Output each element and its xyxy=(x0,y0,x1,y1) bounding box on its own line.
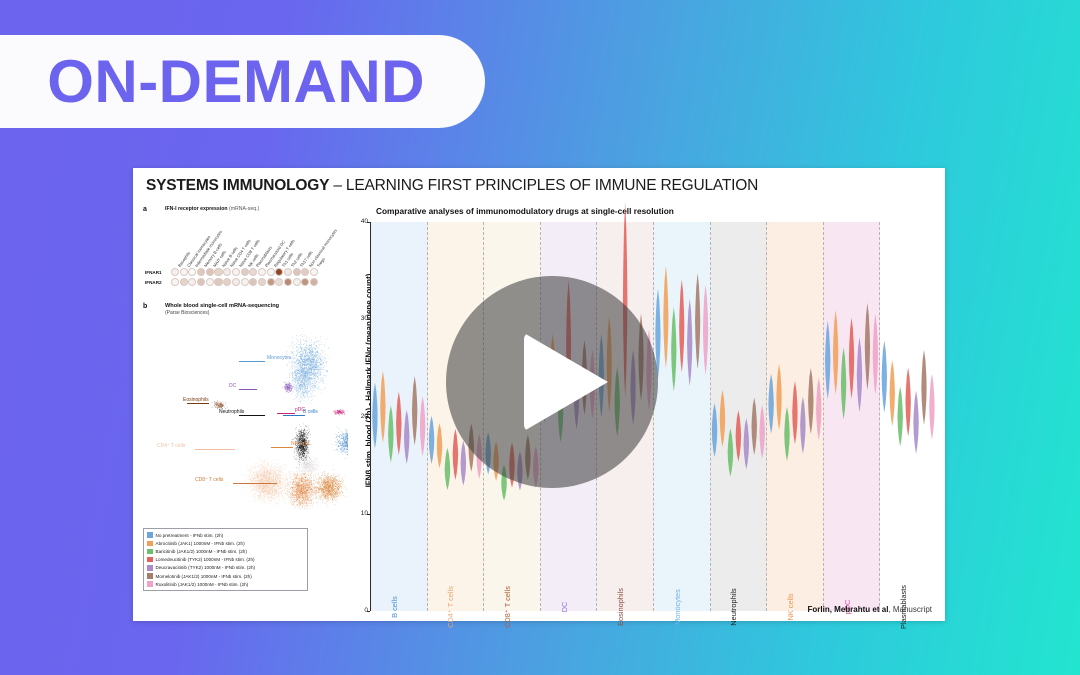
panel-a-dot xyxy=(180,278,188,286)
x-axis-category-label: B cells xyxy=(390,596,399,618)
legend-item: Baricitinib (JAK1/2) 1000nM - IFNb stim.… xyxy=(147,547,304,555)
violin-shape xyxy=(403,410,410,464)
chart-band: NK cells xyxy=(767,222,824,611)
panel-a-dot xyxy=(232,278,240,286)
violin-shape xyxy=(921,350,927,425)
violin-shape xyxy=(833,310,839,394)
violin-shape xyxy=(428,416,435,464)
x-axis-category-label: Monocytes xyxy=(673,589,682,625)
legend-item: Momelotinib (JAK1/2) 1000nM - IFNb stim.… xyxy=(147,572,304,580)
on-demand-badge: ON-DEMAND xyxy=(0,35,485,128)
umap-scatter: MonocytesDCpDCEosinophilsNeutrophilsB ce… xyxy=(143,317,348,517)
y-axis-tick-label: 20 xyxy=(356,413,368,420)
legend-swatch xyxy=(147,557,153,563)
page-title: SYSTEMS IMMUNOLOGY – LEARNING FIRST PRIN… xyxy=(146,177,758,195)
panel-a-title: IFN-I receptor expression (mRNA-seq.) xyxy=(165,206,259,212)
chart-band: Monocytes xyxy=(654,222,711,611)
panel-a-dot xyxy=(214,278,222,286)
panel-a-dot xyxy=(258,278,266,286)
violin-shape xyxy=(396,392,402,455)
legend-label: Abrocitinib (JAK1) 1000nM - IFNb stim. (… xyxy=(156,541,245,546)
violin-shape xyxy=(380,371,386,443)
violin-shape xyxy=(881,340,887,412)
panel-a-dot xyxy=(249,268,257,276)
panel-a-dot xyxy=(249,278,257,286)
umap-label-leader xyxy=(239,361,265,362)
panel-a-row-label: IFNAR1 xyxy=(145,270,162,275)
panel-a-dot xyxy=(180,268,188,276)
umap-label-leader xyxy=(195,449,235,450)
umap-label-leader xyxy=(187,403,209,404)
credit-authors: Forlin, Mebrahtu et al xyxy=(808,605,889,614)
manuscript-credit: Forlin, Mebrahtu et al, Manuscript xyxy=(808,605,932,614)
y-axis-tick-label: 40 xyxy=(356,218,368,225)
panel-a-row-label: IFNAR2 xyxy=(145,280,162,285)
panel-a-dot xyxy=(197,278,205,286)
violin-shape xyxy=(759,405,766,459)
violin-shape xyxy=(372,382,378,448)
legend-label: Momelotinib (JAK1/2) 1000nM - IFNb stim.… xyxy=(156,574,252,579)
violin-shape xyxy=(872,314,878,395)
umap-label-leader xyxy=(283,415,305,416)
violin-shape xyxy=(897,386,904,446)
legend-label: Deucravacitinib (TYK2) 1000nM - IFNb sti… xyxy=(156,565,256,570)
umap-label-leader xyxy=(239,389,257,390)
violin-shape xyxy=(436,423,443,468)
umap-label-leader xyxy=(233,483,277,484)
panel-a-dot xyxy=(223,278,231,286)
violin-shape xyxy=(695,273,701,369)
panel-b-title: Whole blood single-cell mRNA-sequencing xyxy=(165,303,279,309)
violin-shape xyxy=(460,441,467,486)
chart-band: Plasmablasts xyxy=(880,222,936,611)
panel-a-dot xyxy=(214,268,222,276)
panel-a-title-note: (mRNA-seq.) xyxy=(229,206,259,212)
violin-shape xyxy=(679,279,685,372)
violin-shape xyxy=(719,390,726,447)
x-axis-category-label: CD8⁺ T cells xyxy=(503,586,512,628)
umap-cluster-label: Monocytes xyxy=(267,355,291,361)
panel-a-dot xyxy=(301,278,309,286)
chart-band: Neutrophils xyxy=(711,222,768,611)
on-demand-label: ON-DEMAND xyxy=(47,52,425,112)
violin-shape xyxy=(913,391,919,454)
panel-a-row-cells xyxy=(171,268,318,276)
page-title-bold: SYSTEMS IMMUNOLOGY xyxy=(146,177,329,194)
violin-shape xyxy=(452,429,459,480)
panel-a-dot xyxy=(293,278,301,286)
panel-a-dot xyxy=(267,268,275,276)
violin-shape xyxy=(663,266,669,369)
violin-shape xyxy=(702,285,708,375)
violin-shape xyxy=(768,374,775,434)
violin-shape xyxy=(411,376,417,445)
page-title-rest: – LEARNING FIRST PRINCIPLES OF IMMUNE RE… xyxy=(329,177,758,194)
panel-a-dot xyxy=(267,278,275,286)
y-axis-tick-label: 10 xyxy=(356,510,368,517)
y-axis-tick-label: 30 xyxy=(356,315,368,322)
violin-shape xyxy=(792,381,798,444)
umap-cluster-label: CD4⁺ T cells xyxy=(157,443,185,449)
legend-item: Lomedeucitinib (TYK2) 1000nM - IFNb stim… xyxy=(147,556,304,564)
panel-a-column-labels: BasophilsClassical monocytesIntermediate… xyxy=(181,218,341,268)
panel-a-dot xyxy=(206,268,214,276)
panel-a-dot xyxy=(275,268,283,276)
legend-label: Baricitinib (JAK1/2) 1000nM - IFNb stim.… xyxy=(156,549,247,554)
panel-a-dot xyxy=(188,268,196,276)
violin-shape xyxy=(784,407,791,461)
violin-shape xyxy=(864,303,870,390)
credit-suffix: , Manuscript xyxy=(888,605,932,614)
treatment-legend: No pretreatment - IFNb stim. (2h)Abrocit… xyxy=(143,528,308,591)
panel-a-dot xyxy=(310,268,318,276)
panel-a-letter: a xyxy=(143,206,147,213)
violin-shape xyxy=(711,403,718,457)
legend-label: Ruxolitinib (JAK1/2) 1000nM - IFNb stim.… xyxy=(156,582,249,587)
violin-shape xyxy=(751,398,758,455)
chart-band: B cells xyxy=(371,222,428,611)
umap-cluster-label: DC xyxy=(229,383,236,389)
legend-swatch xyxy=(147,549,153,555)
violin-shape xyxy=(419,396,426,456)
violin-shape xyxy=(800,397,807,454)
panel-b-subtitle: (Parse Biosciences) xyxy=(165,310,209,316)
x-axis-category-label: DC xyxy=(560,602,569,613)
violin-shape xyxy=(825,321,831,399)
legend-swatch xyxy=(147,573,153,579)
violin-shape xyxy=(727,428,734,476)
violin-shape xyxy=(388,405,395,462)
panel-a-dot xyxy=(241,268,249,276)
panel-a-dot xyxy=(284,268,292,276)
umap-cluster-label: CD8⁺ T cells xyxy=(195,477,223,483)
x-axis-category-label: CD4⁺ T cells xyxy=(446,586,455,628)
panel-b-umap: b Whole blood single-cell mRNA-sequencin… xyxy=(143,303,348,518)
y-axis-tick-label: 0 xyxy=(356,607,368,614)
legend-swatch xyxy=(147,565,153,571)
violin-shape xyxy=(444,448,451,490)
legend-item: Abrocitinib (JAK1) 1000nM - IFNb stim. (… xyxy=(147,539,304,547)
legend-item: No pretreatment - IFNb stim. (2h) xyxy=(147,531,304,539)
umap-label-leader xyxy=(271,447,293,448)
panel-a-dot xyxy=(171,268,179,276)
x-axis-category-label: Neutrophils xyxy=(729,588,738,625)
legend-swatch xyxy=(147,532,153,538)
panel-a-dot xyxy=(293,268,301,276)
panel-a-dot xyxy=(232,268,240,276)
panel-a-dot xyxy=(223,268,231,276)
panel-a-dot xyxy=(241,278,249,286)
panel-a-dot xyxy=(258,268,266,276)
panel-a-dot xyxy=(301,268,309,276)
umap-cluster-label: NK cells xyxy=(291,441,309,447)
violin-shape xyxy=(808,368,814,434)
violin-shape xyxy=(776,364,782,430)
panel-a-title-text: IFN-I receptor expression xyxy=(165,206,229,212)
umap-cluster-label: B cells xyxy=(303,409,318,415)
violin-shape xyxy=(889,360,895,426)
violin-shape xyxy=(929,374,935,440)
umap-label-leader xyxy=(277,413,295,414)
chart-band: pDC xyxy=(824,222,881,611)
panel-a-dot xyxy=(310,278,318,286)
legend-label: Lomedeucitinib (TYK2) 1000nM - IFNb stim… xyxy=(156,557,255,562)
violin-shape xyxy=(848,317,854,398)
violin-shape xyxy=(816,377,822,440)
umap-canvas xyxy=(143,317,348,517)
legend-swatch xyxy=(147,581,153,587)
panel-a-dot xyxy=(197,268,205,276)
violin-shape xyxy=(743,418,750,469)
umap-label-leader xyxy=(239,415,265,416)
panel-a-row-cells xyxy=(171,278,318,286)
panel-a-receptor-expression: a IFN-I receptor expression (mRNA-seq.) … xyxy=(143,206,343,304)
legend-item: Ruxolitinib (JAK1/2) 1000nM - IFNb stim.… xyxy=(147,580,304,588)
x-axis-category-label: NK cells xyxy=(786,593,795,620)
panel-b-letter: b xyxy=(143,303,147,310)
violin-shape xyxy=(905,367,911,436)
panel-a-dot xyxy=(188,278,196,286)
panel-a-dot xyxy=(171,278,179,286)
play-triangle-icon xyxy=(524,333,608,431)
x-axis-category-label: Eosinophils xyxy=(616,588,625,626)
violin-shape xyxy=(687,299,693,386)
panel-a-dot xyxy=(284,278,292,286)
panel-a-dot xyxy=(275,278,283,286)
panel-a-dot xyxy=(206,278,214,286)
legend-item: Deucravacitinib (TYK2) 1000nM - IFNb sti… xyxy=(147,564,304,572)
legend-swatch xyxy=(147,541,153,547)
legend-label: No pretreatment - IFNb stim. (2h) xyxy=(156,533,224,538)
violin-shape xyxy=(735,410,742,461)
violin-shape xyxy=(840,347,846,419)
chart-title: Comparative analyses of immunomodulatory… xyxy=(376,206,674,216)
violin-shape xyxy=(671,307,677,391)
violin-shape xyxy=(856,337,862,412)
play-button[interactable] xyxy=(446,276,658,488)
